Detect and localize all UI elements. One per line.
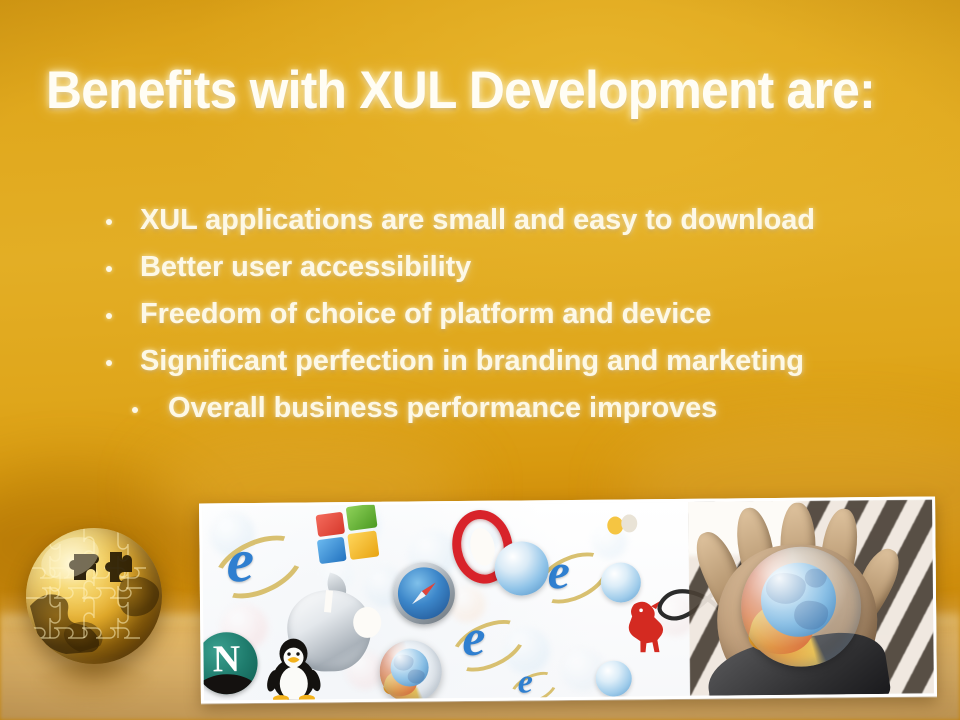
linux-tux-icon: [265, 635, 322, 702]
windows-pane-red: [315, 512, 345, 537]
safari-face: [398, 567, 450, 619]
list-item: Freedom of choice of platform and device: [96, 292, 916, 339]
list-item: XUL applications are small and easy to d…: [96, 198, 916, 245]
hand-holding-firefox-photo: [688, 499, 937, 695]
safari-compass-icon: [393, 562, 456, 625]
internet-explorer-icon: e: [216, 532, 291, 597]
firefox-landmass: [393, 655, 413, 671]
firefox-landmass: [804, 568, 826, 588]
benefits-list: XUL applications are small and easy to d…: [96, 198, 916, 433]
firefox-earth: [761, 562, 836, 637]
globe-browser-icon: [601, 562, 641, 602]
globe-reflection: [34, 662, 154, 706]
list-item-label: Overall business performance improves: [168, 392, 717, 424]
slide-title: Benefits with XUL Development are:: [46, 60, 873, 122]
list-item-label: Significant perfection in branding and m…: [140, 345, 804, 377]
firefox-icon: [379, 640, 442, 703]
windows-pane-blue: [317, 537, 347, 564]
netscape-letter: N: [213, 637, 241, 681]
list-item-label: XUL applications are small and easy to d…: [140, 204, 815, 236]
banner-background: e: [202, 500, 934, 701]
browser-logos-banner: e: [199, 496, 937, 703]
globe-graphic: [26, 528, 168, 708]
list-item-label: Better user accessibility: [140, 251, 471, 283]
slide: Benefits with XUL Development are: XUL a…: [0, 0, 960, 720]
golden-jigsaw-globe-icon: [26, 528, 162, 664]
windows-flag-icon: [313, 503, 384, 567]
netscape-icon: N: [199, 632, 258, 695]
firefox-landmass: [794, 601, 828, 630]
list-item: Better user accessibility: [96, 245, 916, 292]
firefox-landmass: [408, 669, 425, 683]
list-item: Significant perfection in branding and m…: [96, 339, 916, 386]
windows-pane-yellow: [347, 530, 379, 560]
internet-explorer-icon: e: [453, 616, 516, 671]
windows-pane-green: [346, 503, 378, 531]
globe-browser-icon: [596, 660, 632, 696]
firefox-landmass: [766, 573, 806, 605]
globe-browser-icon: [494, 541, 549, 596]
safari-needle: [410, 580, 438, 606]
internet-explorer-icon: e: [512, 669, 550, 703]
list-item-label: Freedom of choice of platform and device: [140, 298, 711, 330]
bookmark-icon: [606, 514, 640, 536]
firefox-icon: [741, 546, 862, 667]
opera-counter: [467, 526, 498, 568]
apple-bite: [353, 606, 382, 638]
list-item: Overall business performance improves: [96, 386, 916, 433]
